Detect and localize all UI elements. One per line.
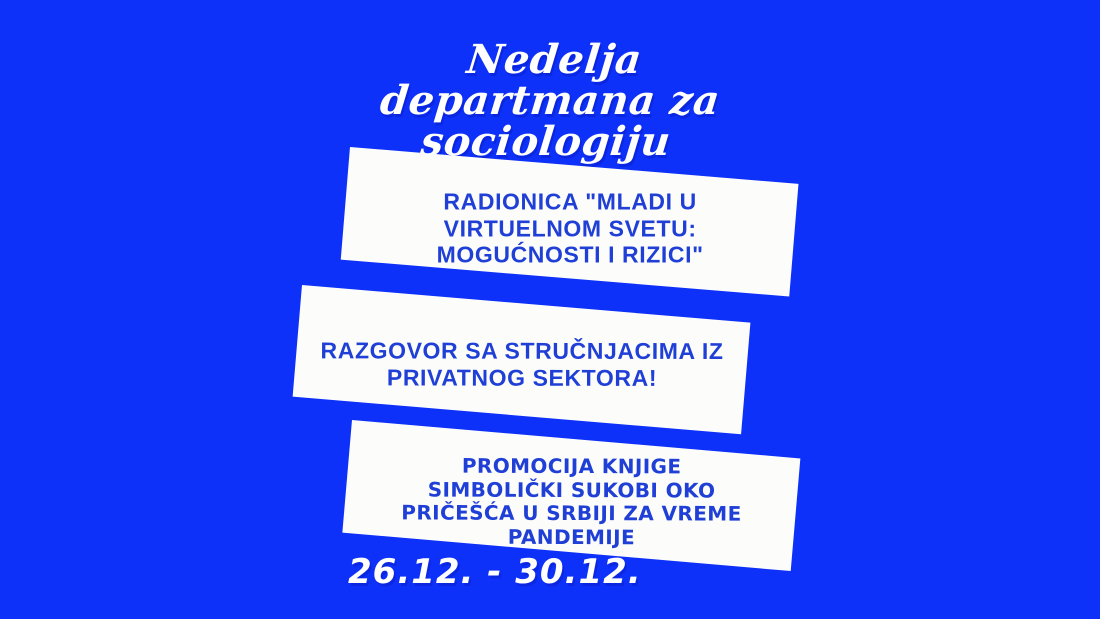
event-card-1-text: RADIONICA "MLADI U VIRTUELNOM SVETU: MOG… [436,175,703,269]
event-card-2: RAZGOVOR SA STRUČNJACIMA IZ PRIVATNOG SE… [293,285,751,434]
event-card-3-line-2: SIMBOLIČKI SUKOBI OKO [401,478,741,503]
event-card-3-line-4: PANDEMIJE [401,526,741,551]
event-card-1-line-2: VIRTUELNOM SVETU: [436,215,703,242]
event-card-1: RADIONICA "MLADI U VIRTUELNOM SVETU: MOG… [341,147,799,296]
event-card-3-line-3: PRIČEŠĆA U SRBIJI ZA VREME [401,502,741,527]
event-card-2-line-2: PRIVATNOG SEKTORA! [320,364,723,391]
poster-title-container: Nedelja departmana za sociologiju [0,40,1100,162]
event-card-1-line-1: RADIONICA "MLADI U [436,189,703,216]
page-title: Nedelja departmana za sociologiju [344,40,757,162]
event-card-3-line-1: PROMOCIJA KNJIGE [401,455,741,480]
date-range: 26.12. - 30.12. [348,552,642,592]
event-card-2-text: RAZGOVOR SA STRUČNJACIMA IZ PRIVATNOG SE… [320,328,723,392]
event-card-1-line-3: MOGUĆNOSTI I RIZICI" [436,242,703,269]
poster-canvas: Nedelja departmana za sociologiju RADION… [0,0,1100,619]
event-card-3-text: PROMOCIJA KNJIGE SIMBOLIČKI SUKOBI OKO P… [401,441,742,551]
event-card-3: PROMOCIJA KNJIGE SIMBOLIČKI SUKOBI OKO P… [342,420,800,571]
event-card-2-line-1: RAZGOVOR SA STRUČNJACIMA IZ [320,338,723,365]
